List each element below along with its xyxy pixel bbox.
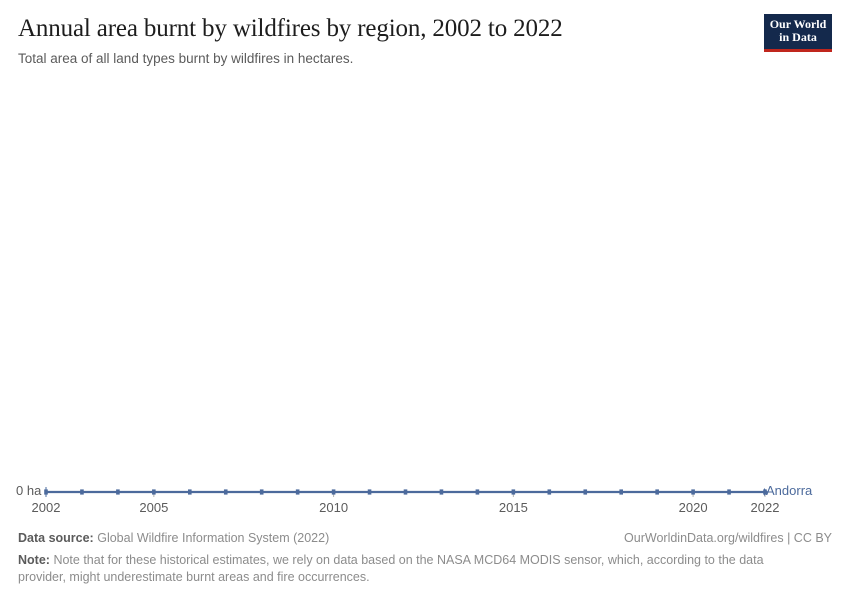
data-source-value: Global Wildfire Information System (2022…: [97, 531, 329, 545]
series-data-point[interactable]: [188, 489, 192, 494]
chart-header: Annual area burnt by wildfires by region…: [18, 14, 758, 68]
chart-note-value: Note that for these historical estimates…: [18, 553, 764, 584]
chart-plot-area[interactable]: 0 ha Andorra 200220052010201520202022: [0, 80, 850, 525]
chart-note: Note: Note that for these historical est…: [18, 552, 808, 586]
logo-line-2: in Data: [769, 31, 827, 44]
series-data-point[interactable]: [691, 489, 695, 494]
our-world-in-data-logo[interactable]: Our World in Data: [764, 14, 832, 52]
line-chart-svg: [0, 80, 850, 525]
y-axis-zero-label: 0 ha: [16, 484, 41, 498]
series-data-point[interactable]: [619, 489, 623, 494]
footer-top-row: Data source: Global Wildfire Information…: [18, 530, 832, 547]
series-data-point[interactable]: [296, 489, 300, 494]
chart-subtitle: Total area of all land types burnt by wi…: [18, 50, 758, 68]
x-axis-tick-label-2015: 2015: [499, 501, 528, 515]
data-source: Data source: Global Wildfire Information…: [18, 530, 329, 547]
series-data-point[interactable]: [80, 489, 84, 494]
license-link[interactable]: OurWorldinData.org/wildfires | CC BY: [624, 530, 832, 547]
series-data-point[interactable]: [476, 489, 480, 494]
series-data-point[interactable]: [44, 489, 48, 494]
series-data-point[interactable]: [655, 489, 659, 494]
series-data-point[interactable]: [404, 489, 408, 494]
x-axis-tick-label-2002: 2002: [32, 501, 61, 515]
series-data-point[interactable]: [583, 489, 587, 494]
chart-footer: Data source: Global Wildfire Information…: [18, 530, 832, 586]
x-axis-tick-label-2020: 2020: [679, 501, 708, 515]
series-data-point[interactable]: [332, 489, 336, 494]
series-data-point[interactable]: [548, 489, 552, 494]
series-data-point[interactable]: [152, 489, 156, 494]
x-axis-tick-label-2005: 2005: [139, 501, 168, 515]
x-axis-tick-label-2022: 2022: [751, 501, 780, 515]
series-end-label-andorra[interactable]: Andorra: [766, 484, 812, 498]
x-axis-tick-label-2010: 2010: [319, 501, 348, 515]
data-source-label: Data source:: [18, 531, 94, 545]
page-title: Annual area burnt by wildfires by region…: [18, 14, 758, 44]
series-data-point[interactable]: [368, 489, 372, 494]
series-data-point[interactable]: [116, 489, 120, 494]
series-data-point[interactable]: [440, 489, 444, 494]
series-data-point[interactable]: [260, 489, 264, 494]
series-data-point[interactable]: [512, 489, 516, 494]
chart-note-label: Note:: [18, 553, 50, 567]
series-data-point[interactable]: [727, 489, 731, 494]
series-data-point[interactable]: [224, 489, 228, 494]
